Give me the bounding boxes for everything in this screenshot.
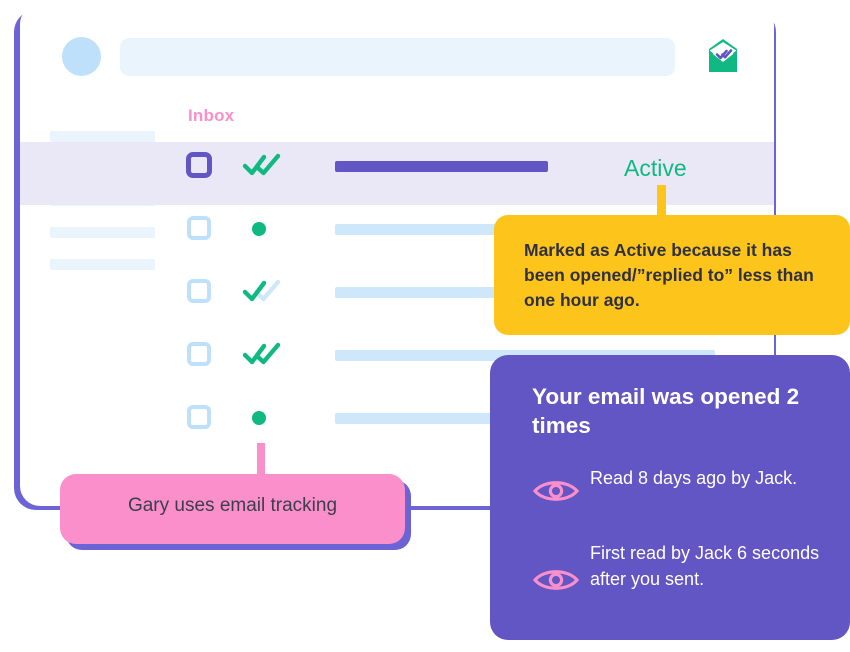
callout-open-stats-item-text: Read 8 days ago by Jack. [590, 465, 797, 491]
search-input[interactable] [120, 38, 675, 76]
callout-active-text: Marked as Active because it has been ope… [524, 238, 826, 313]
callout-active-explainer: Marked as Active because it has been ope… [494, 215, 850, 335]
list-item: Read 8 days ago by Jack. [532, 465, 822, 510]
list-item: First read by Jack 6 seconds after you s… [532, 540, 822, 599]
avatar[interactable] [62, 37, 101, 76]
double-check-icon [242, 151, 282, 179]
row-checkbox[interactable] [187, 216, 211, 240]
sidebar-placeholder-line [50, 131, 155, 142]
open-envelope-double-check-icon [701, 36, 745, 76]
dot-icon [252, 411, 266, 425]
subject-placeholder-bar [335, 161, 548, 172]
dot-icon [252, 222, 266, 236]
status-badge: Active [624, 155, 687, 182]
double-check-icon [242, 340, 282, 368]
callout-open-stats-title: Your email was opened 2 times [532, 382, 810, 440]
eye-icon [532, 540, 590, 599]
double-check-half-icon [242, 277, 282, 305]
callout-open-stats-item-text: First read by Jack 6 seconds after you s… [590, 540, 822, 592]
row-checkbox[interactable] [187, 279, 211, 303]
row-checkbox[interactable] [186, 152, 212, 178]
row-checkbox[interactable] [187, 342, 211, 366]
row-checkbox[interactable] [187, 405, 211, 429]
callout-email-tracking-text: Gary uses email tracking [60, 495, 405, 517]
callout-email-tracking: Gary uses email tracking [60, 474, 405, 544]
screenshot-stage: Inbox [0, 0, 850, 652]
callout-open-stats: Your email was opened 2 times Read 8 day… [490, 355, 850, 640]
inbox-title: Inbox [188, 106, 234, 126]
eye-icon [532, 465, 590, 510]
